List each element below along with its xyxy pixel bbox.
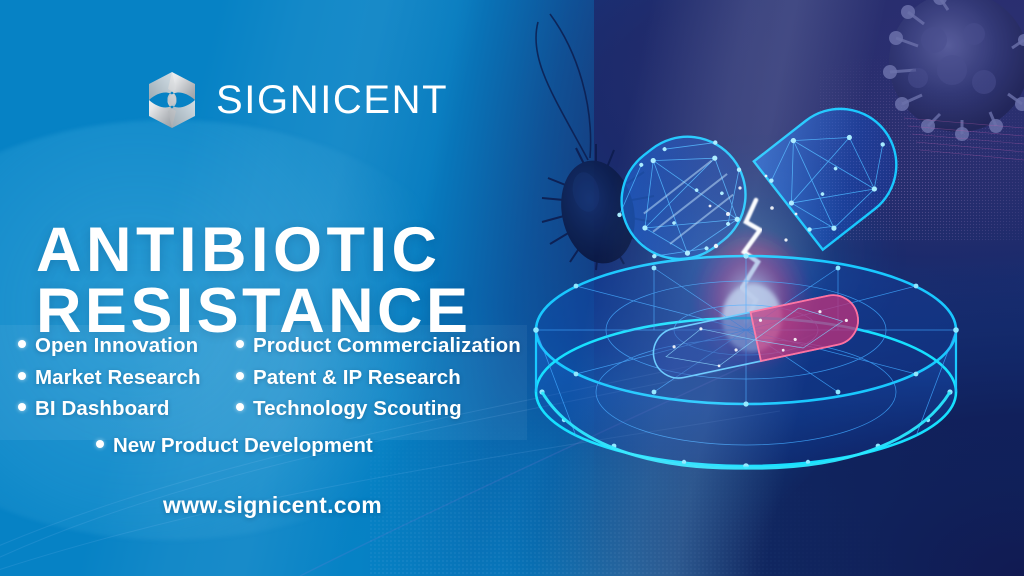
list-item-label: Product Commercialization [253, 330, 521, 362]
signicent-s-logo-icon [146, 70, 198, 130]
bullet-dot-icon [236, 340, 244, 348]
page-title-line-1: ANTIBIOTIC [36, 215, 441, 285]
services-list: Open Innovation Market Research BI Dashb… [18, 330, 558, 425]
list-item-label: BI Dashboard [35, 393, 169, 425]
list-item-label: Open Innovation [35, 330, 198, 362]
list-item[interactable]: New Product Development [96, 432, 373, 460]
bullet-dot-icon [18, 340, 26, 348]
list-item-label: New Product Development [113, 432, 373, 460]
page-title: ANTIBIOTIC RESISTANCE [36, 220, 576, 341]
brand-logo[interactable]: SIGNICENT [146, 70, 448, 130]
list-item-label: Patent & IP Research [253, 362, 461, 394]
brand-name: SIGNICENT [216, 80, 448, 120]
list-item[interactable]: Patent & IP Research [236, 362, 546, 394]
list-item-label: Technology Scouting [253, 393, 462, 425]
bullet-dot-icon [18, 372, 26, 380]
banner-canvas: SIGNICENT ANTIBIOTIC RESISTANCE Open Inn… [0, 0, 1024, 576]
bullet-dot-icon [236, 403, 244, 411]
services-column-right: Product Commercialization Patent & IP Re… [236, 330, 546, 425]
services-column-left: Open Innovation Market Research BI Dashb… [18, 330, 236, 425]
bullet-dot-icon [18, 403, 26, 411]
list-item[interactable]: Market Research [18, 362, 236, 394]
list-item[interactable]: BI Dashboard [18, 393, 236, 425]
website-url[interactable]: www.signicent.com [163, 492, 382, 519]
bullet-dot-icon [96, 440, 104, 448]
list-item-label: Market Research [35, 362, 201, 394]
bullet-dot-icon [236, 372, 244, 380]
list-item[interactable]: Open Innovation [18, 330, 236, 362]
list-item[interactable]: Product Commercialization [236, 330, 546, 362]
list-item[interactable]: Technology Scouting [236, 393, 546, 425]
